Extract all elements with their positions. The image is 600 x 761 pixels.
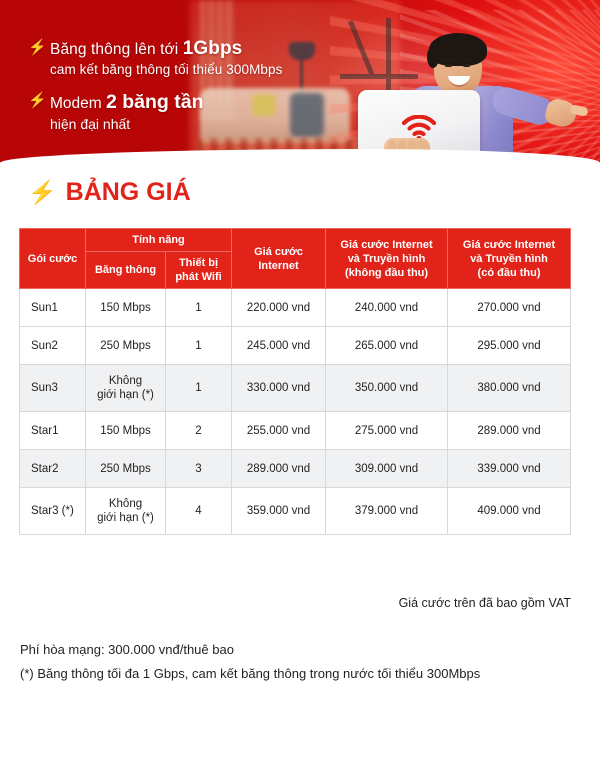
cell-tv-box-price: 270.000 vnd: [448, 289, 571, 327]
banner-bullet-2: ⚡ Modem 2 băng tần hiện đại nhất: [28, 91, 283, 134]
cell-wifi-count: 2: [166, 412, 232, 450]
cell-bandwidth-line2: giới hạn (*): [90, 388, 161, 402]
cell-bandwidth: Không giới hạn (*): [86, 365, 166, 412]
cell-package: Sun2: [20, 327, 86, 365]
price-table-header: Gói cước Tính năng Giá cước Internet Giá…: [20, 229, 571, 289]
table-row: Sun3 Không giới hạn (*) 1 330.000 vnd 35…: [20, 365, 571, 412]
cell-tv-no-box-price: 275.000 vnd: [326, 412, 448, 450]
cell-package: Star3 (*): [20, 488, 86, 535]
cell-bandwidth: 150 Mbps: [86, 289, 166, 327]
th-tv-no-box: Giá cước Internet và Truyền hình (không …: [326, 229, 448, 289]
th-internet-price: Giá cước Internet: [232, 229, 326, 289]
banner-bullet-list: ⚡ Băng thông lên tới 1Gbps cam kết băng …: [28, 38, 283, 146]
th-wifi-device: Thiết bị phát Wifi: [166, 252, 232, 289]
cell-package: Star1: [20, 412, 86, 450]
th-bandwidth: Băng thông: [86, 252, 166, 289]
cell-wifi-count: 1: [166, 289, 232, 327]
cell-bandwidth: 150 Mbps: [86, 412, 166, 450]
table-row: Sun2 250 Mbps 1 245.000 vnd 265.000 vnd …: [20, 327, 571, 365]
person-eyebrow-right: [461, 59, 471, 61]
cell-wifi-count: 4: [166, 488, 232, 535]
cell-tv-box-price: 295.000 vnd: [448, 327, 571, 365]
th-package: Gói cước: [20, 229, 86, 289]
cell-bandwidth: 250 Mbps: [86, 327, 166, 365]
person-eyebrow-left: [443, 59, 453, 61]
th-features: Tính năng: [86, 229, 232, 252]
page-title-label: BẢNG GIÁ: [66, 178, 191, 207]
page-title: ⚡ BẢNG GIÁ: [28, 178, 191, 207]
th-internet-price-line1: Giá cước: [235, 245, 322, 259]
price-table: Gói cước Tính năng Giá cước Internet Giá…: [19, 228, 571, 535]
cell-wifi-count: 3: [166, 450, 232, 488]
cell-package: Sun1: [20, 289, 86, 327]
cell-internet-price: 289.000 vnd: [232, 450, 326, 488]
th-tv-no-box-line2: và Truyền hình: [329, 252, 444, 266]
cell-bandwidth: 250 Mbps: [86, 450, 166, 488]
banner-bullet-1-line2: cam kết băng thông tối thiểu 300Mbps: [50, 60, 283, 79]
cell-bandwidth-line2: giới hạn (*): [90, 511, 161, 525]
banner-bullet-2-strong: 2 băng tần: [106, 91, 204, 113]
cell-internet-price: 245.000 vnd: [232, 327, 326, 365]
cell-internet-price: 359.000 vnd: [232, 488, 326, 535]
th-wifi-device-line2: phát Wifi: [169, 270, 228, 284]
price-table-body: Sun1 150 Mbps 1 220.000 vnd 240.000 vnd …: [20, 289, 571, 535]
bolt-icon: ⚡: [28, 181, 57, 204]
bolt-icon: ⚡: [28, 91, 44, 111]
blanket-decor: [290, 93, 324, 137]
footer-notes: Phí hòa mạng: 300.000 vnđ/thuê bao (*) B…: [20, 638, 480, 686]
cell-internet-price: 220.000 vnd: [232, 289, 326, 327]
person-hair-side: [427, 46, 439, 68]
cell-tv-box-price: 380.000 vnd: [448, 365, 571, 412]
cell-tv-no-box-price: 309.000 vnd: [326, 450, 448, 488]
cell-package: Sun3: [20, 365, 86, 412]
th-tv-box-line2: và Truyền hình: [451, 252, 567, 266]
th-tv-box-line1: Giá cước Internet: [451, 238, 567, 252]
table-row: Star1 150 Mbps 2 255.000 vnd 275.000 vnd…: [20, 412, 571, 450]
cell-tv-box-price: 339.000 vnd: [448, 450, 571, 488]
th-tv-box-line3: (có đầu thu): [451, 266, 567, 280]
cell-tv-box-price: 409.000 vnd: [448, 488, 571, 535]
banner-bullet-2-line2: hiện đại nhất: [50, 115, 204, 134]
banner-bullet-1-prefix: Băng thông lên tới: [50, 41, 183, 58]
price-table-header-row-1: Gói cước Tính năng Giá cước Internet Giá…: [20, 229, 571, 252]
banner-bullet-2-line1: Modem 2 băng tần: [50, 91, 204, 115]
th-tv-box: Giá cước Internet và Truyền hình (có đầu…: [448, 229, 571, 289]
cell-internet-price: 330.000 vnd: [232, 365, 326, 412]
banner-bullet-1-line1: Băng thông lên tới 1Gbps: [50, 38, 283, 60]
banner-bullet-2-prefix: Modem: [50, 95, 106, 112]
cell-tv-no-box-price: 265.000 vnd: [326, 327, 448, 365]
th-wifi-device-line1: Thiết bị: [169, 256, 228, 270]
banner-bullet-1-strong: 1Gbps: [183, 38, 243, 59]
cell-tv-no-box-price: 350.000 vnd: [326, 365, 448, 412]
person-eye-left: [445, 64, 452, 67]
cell-tv-no-box-price: 240.000 vnd: [326, 289, 448, 327]
cell-bandwidth: Không giới hạn (*): [86, 488, 166, 535]
table-row: Star2 250 Mbps 3 289.000 vnd 309.000 vnd…: [20, 450, 571, 488]
promo-banner: ⚡ Băng thông lên tới 1Gbps cam kết băng …: [0, 0, 600, 163]
cell-bandwidth-line1: Không: [90, 497, 161, 511]
cell-wifi-count: 1: [166, 365, 232, 412]
table-row: Sun1 150 Mbps 1 220.000 vnd 240.000 vnd …: [20, 289, 571, 327]
person-eye-right: [463, 64, 470, 67]
vat-note: Giá cước trên đã bao gồm VAT: [0, 596, 571, 610]
bolt-icon: ⚡: [28, 38, 44, 58]
footer-note-bandwidth-disclaimer: (*) Băng thông tối đa 1 Gbps, cam kết bă…: [20, 662, 480, 686]
cell-internet-price: 255.000 vnd: [232, 412, 326, 450]
cell-tv-box-price: 289.000 vnd: [448, 412, 571, 450]
person-with-laptop-photo: [400, 20, 590, 163]
cell-bandwidth-line1: Không: [90, 374, 161, 388]
table-row: Star3 (*) Không giới hạn (*) 4 359.000 v…: [20, 488, 571, 535]
footer-note-installation-fee: Phí hòa mạng: 300.000 vnđ/thuê bao: [20, 638, 480, 662]
banner-bullet-1: ⚡ Băng thông lên tới 1Gbps cam kết băng …: [28, 38, 283, 79]
th-tv-no-box-line3: (không đầu thu): [329, 266, 444, 280]
cell-package: Star2: [20, 450, 86, 488]
th-internet-price-line2: Internet: [235, 259, 322, 273]
cell-wifi-count: 1: [166, 327, 232, 365]
cell-tv-no-box-price: 379.000 vnd: [326, 488, 448, 535]
th-tv-no-box-line1: Giá cước Internet: [329, 238, 444, 252]
